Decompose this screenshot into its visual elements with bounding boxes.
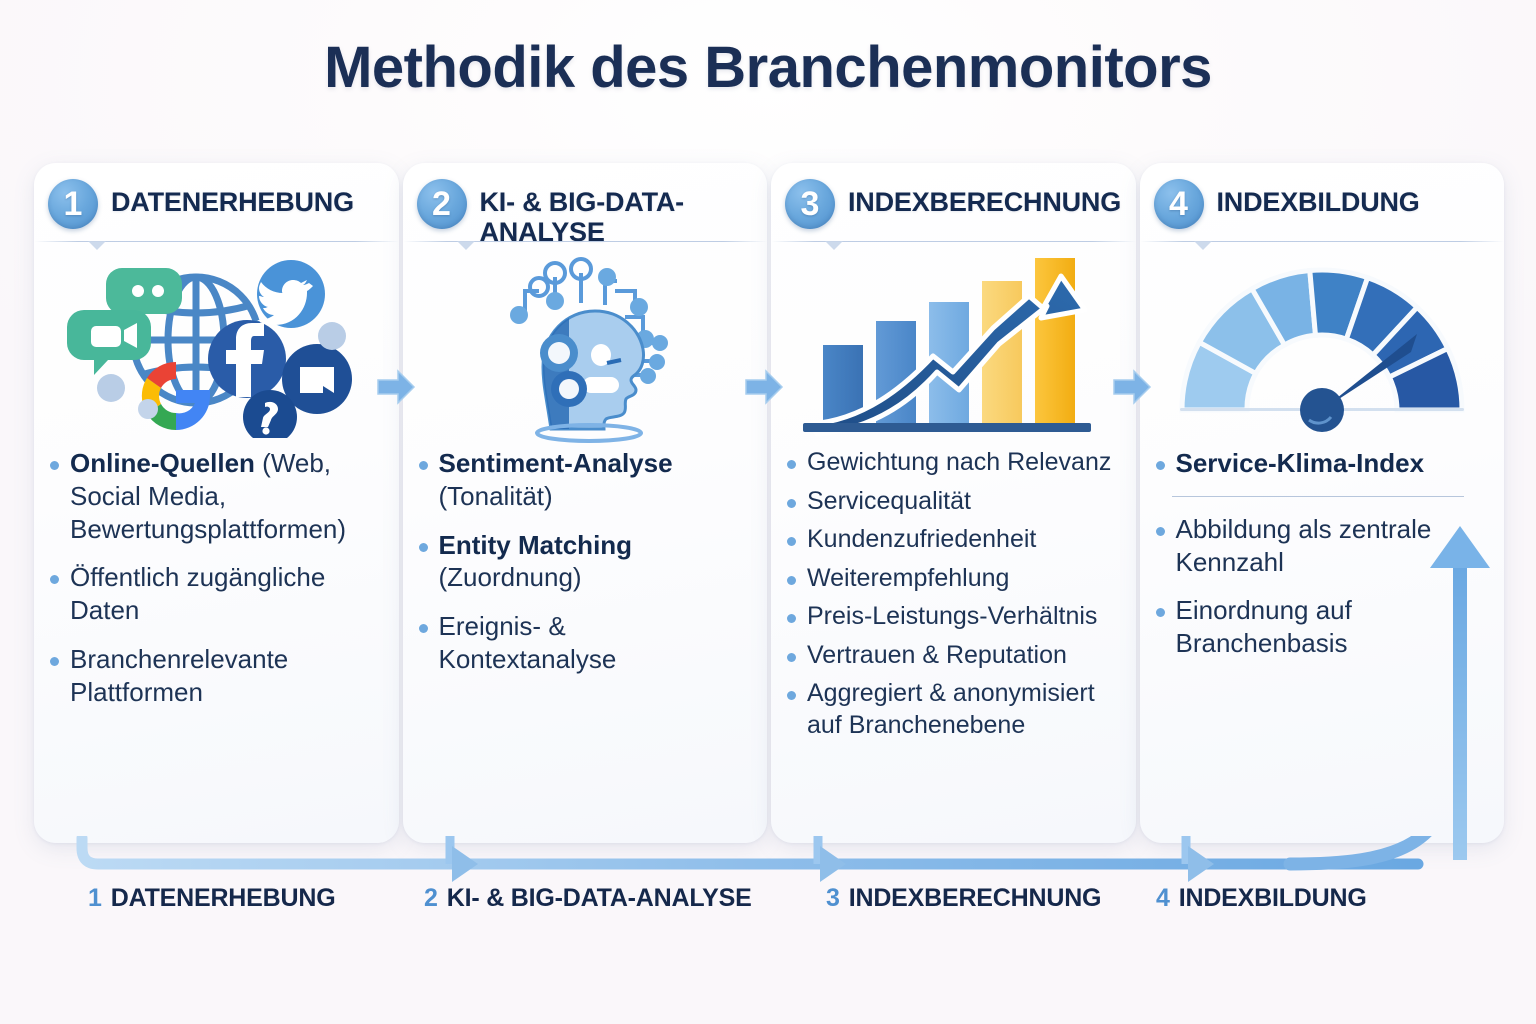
bullet-dot-icon [419, 624, 428, 633]
bullet-text: (Tonalität) [439, 481, 553, 511]
card-4-title: INDEXBILDUNG [1217, 179, 1420, 217]
bullet-dot-icon [787, 537, 796, 546]
bullet-dot-icon [50, 657, 59, 666]
timeline-step-3[interactable]: 3INDEXBERECHNUNG [826, 884, 1101, 913]
decorative-dot-icon [318, 322, 346, 350]
connector-arrow-1-to-2-icon [374, 365, 418, 409]
bullet-dot-icon [50, 461, 59, 470]
card-3-bullets: Gewichtung nach Relevanz Servicequalität… [771, 443, 1136, 741]
list-item: Branchenrelevante Plattformen [50, 643, 379, 709]
list-item: Aggregiert & anonymisiert auf Brancheneb… [787, 678, 1116, 741]
timeline-step-4-number: 4 [1156, 884, 1170, 912]
bullet-text: Gewichtung nach Relevanz [807, 447, 1111, 479]
bullet-text: Aggregiert & anonymisiert auf Brancheneb… [807, 678, 1116, 741]
bullet-dot-icon [1156, 461, 1165, 470]
bullet-bold: Service-Klima-Index [1176, 448, 1425, 478]
step-number-badge: 1 [48, 179, 98, 229]
timeline-labels: 1DATENERHEBUNG 2KI- & BIG-DATA-ANALYSE 3… [0, 884, 1536, 934]
timeline-arrowhead-1 [452, 846, 478, 882]
list-item: Servicequalität [787, 486, 1116, 518]
methodology-card-row: 1 DATENERHEBUNG [34, 163, 1504, 843]
bullet-text: Öffentlich zugängliche Daten [70, 561, 379, 627]
card-1-header: 1 DATENERHEBUNG [34, 163, 399, 243]
card-indexberechnung[interactable]: 3 INDEXBERECHNUNG [771, 163, 1136, 843]
connector-arrow-3-to-4-icon [1110, 365, 1154, 409]
bullet-text: (Zuordnung) [439, 562, 582, 592]
connector-arrow-2-to-3-icon [742, 365, 786, 409]
card-3-title: INDEXBERECHNUNG [848, 179, 1121, 217]
list-item: Weiterempfehlung [787, 563, 1116, 595]
card-ki-big-data-analyse[interactable]: 2 KI- & BIG-DATA-ANALYSE [403, 163, 768, 843]
timeline-line [82, 838, 1418, 864]
card-1-bullets: Online-Quellen (Web, Social Media, Bewer… [34, 443, 399, 708]
list-item: Gewichtung nach Relevanz [787, 447, 1116, 479]
bullet-dot-icon [1156, 527, 1165, 536]
bullet-dot-icon [1156, 608, 1165, 617]
list-item: Öffentlich zugängliche Daten [50, 561, 379, 627]
list-item: Entity Matching (Zuordnung) [419, 529, 748, 595]
list-item: Kundenzufriedenheit [787, 524, 1116, 556]
google-icon [142, 362, 210, 430]
bullet-dot-icon [787, 653, 796, 662]
bullet-text: Kundenzufriedenheit [807, 524, 1036, 556]
step-number-badge: 4 [1154, 179, 1204, 229]
twitter-icon [257, 260, 325, 328]
card-3-header: 3 INDEXBERECHNUNG [771, 163, 1136, 243]
card-datenerhebung[interactable]: 1 DATENERHEBUNG [34, 163, 399, 843]
timeline-step-2-label: KI- & BIG-DATA-ANALYSE [447, 884, 752, 912]
card-1-title: DATENERHEBUNG [111, 179, 354, 217]
bullet-dot-icon [787, 614, 796, 623]
timeline-arrowhead-3 [1188, 846, 1214, 882]
bullet-dot-icon [419, 461, 428, 470]
timeline-rising-curve [1290, 836, 1458, 864]
timeline-arrowhead-2 [820, 846, 846, 882]
page-title: Methodik des Branchenmonitors [0, 34, 1536, 101]
bullet-bold: Entity Matching [439, 530, 633, 560]
bullet-dot-icon [787, 460, 796, 469]
bullet-dot-icon [50, 575, 59, 584]
timeline-step-4[interactable]: 4INDEXBILDUNG [1156, 884, 1367, 913]
growth-up-arrow-icon [1400, 520, 1520, 860]
chart-baseline [803, 423, 1091, 432]
decorative-dot-icon [138, 399, 158, 419]
list-item: Vertrauen & Reputation [787, 640, 1116, 672]
card-2-title: KI- & BIG-DATA-ANALYSE [480, 179, 754, 247]
gauge-speedometer-icon [1140, 243, 1505, 443]
bullet-dot-icon [787, 576, 796, 585]
list-item: Online-Quellen (Web, Social Media, Bewer… [50, 447, 379, 545]
decorative-dot-icon [97, 374, 125, 402]
bullet-text: Vertrauen & Reputation [807, 640, 1067, 672]
bullet-text: Servicequalität [807, 486, 971, 518]
bullet-dot-icon [787, 691, 796, 700]
timeline-step-4-label: INDEXBILDUNG [1179, 884, 1367, 912]
bullet-text: Preis-Leistungs-Verhältnis [807, 601, 1097, 633]
card-2-header: 2 KI- & BIG-DATA-ANALYSE [403, 163, 768, 243]
list-item: Preis-Leistungs-Verhältnis [787, 601, 1116, 633]
step-number-badge: 3 [785, 179, 835, 229]
timeline-step-2-number: 2 [424, 884, 438, 912]
social-media-globe-cluster-icon [34, 243, 399, 443]
bullet-bold: Online-Quellen [70, 448, 255, 478]
timeline-step-1-label: DATENERHEBUNG [111, 884, 336, 912]
card-2-bullets: Sentiment-Analyse (Tonalität) Entity Mat… [403, 443, 768, 676]
bullet-dot-icon [419, 543, 428, 552]
bullet-text: Ereignis- & Kontextanalyse [439, 610, 748, 676]
facebook-icon [208, 320, 286, 398]
card-4-header: 4 INDEXBILDUNG [1140, 163, 1505, 243]
step-number-badge: 2 [417, 179, 467, 229]
bar-chart-growth-arrow-icon [771, 243, 1136, 443]
timeline-step-1[interactable]: 1DATENERHEBUNG [88, 884, 335, 913]
bullet-dot-icon [787, 499, 796, 508]
list-item: Ereignis- & Kontextanalyse [419, 610, 748, 676]
list-item: Service-Klima-Index [1156, 447, 1485, 480]
index-underline [1172, 496, 1465, 497]
bullet-text: Branchenrelevante Plattformen [70, 643, 379, 709]
timeline-step-3-label: INDEXBERECHNUNG [849, 884, 1102, 912]
bullet-bold: Sentiment-Analyse [439, 448, 673, 478]
ai-head-neural-network-icon [403, 243, 768, 443]
timeline-step-1-number: 1 [88, 884, 102, 912]
bullet-text: Weiterempfehlung [807, 563, 1009, 595]
timeline-step-2[interactable]: 2KI- & BIG-DATA-ANALYSE [424, 884, 752, 913]
list-item: Sentiment-Analyse (Tonalität) [419, 447, 748, 513]
timeline-step-3-number: 3 [826, 884, 840, 912]
